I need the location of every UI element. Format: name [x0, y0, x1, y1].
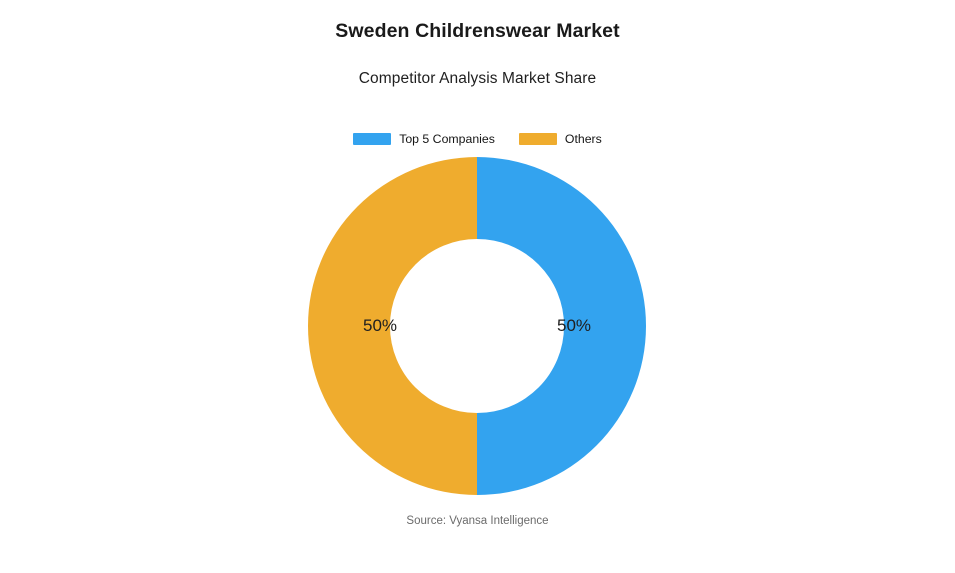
source-caption: Source: Vyansa Intelligence [0, 513, 955, 529]
chart-legend: Top 5 Companies Others [0, 131, 955, 147]
slice-value-label-top-5-companies: 50% [524, 316, 624, 336]
legend-swatch-icon-others [519, 133, 557, 145]
donut-chart: 50% 50% [308, 157, 646, 495]
chart-subtitle: Competitor Analysis Market Share [0, 68, 955, 90]
slice-value-label-others: 50% [330, 316, 430, 336]
chart-title: Sweden Childrenswear Market [0, 18, 955, 44]
legend-item-top-5-companies[interactable]: Top 5 Companies [353, 131, 495, 147]
chart-container: Sweden Childrenswear Market Competitor A… [0, 0, 955, 573]
legend-label-others: Others [565, 131, 602, 147]
legend-swatch-icon-top-5-companies [353, 133, 391, 145]
legend-item-others[interactable]: Others [519, 131, 602, 147]
legend-label-top-5-companies: Top 5 Companies [399, 131, 495, 147]
